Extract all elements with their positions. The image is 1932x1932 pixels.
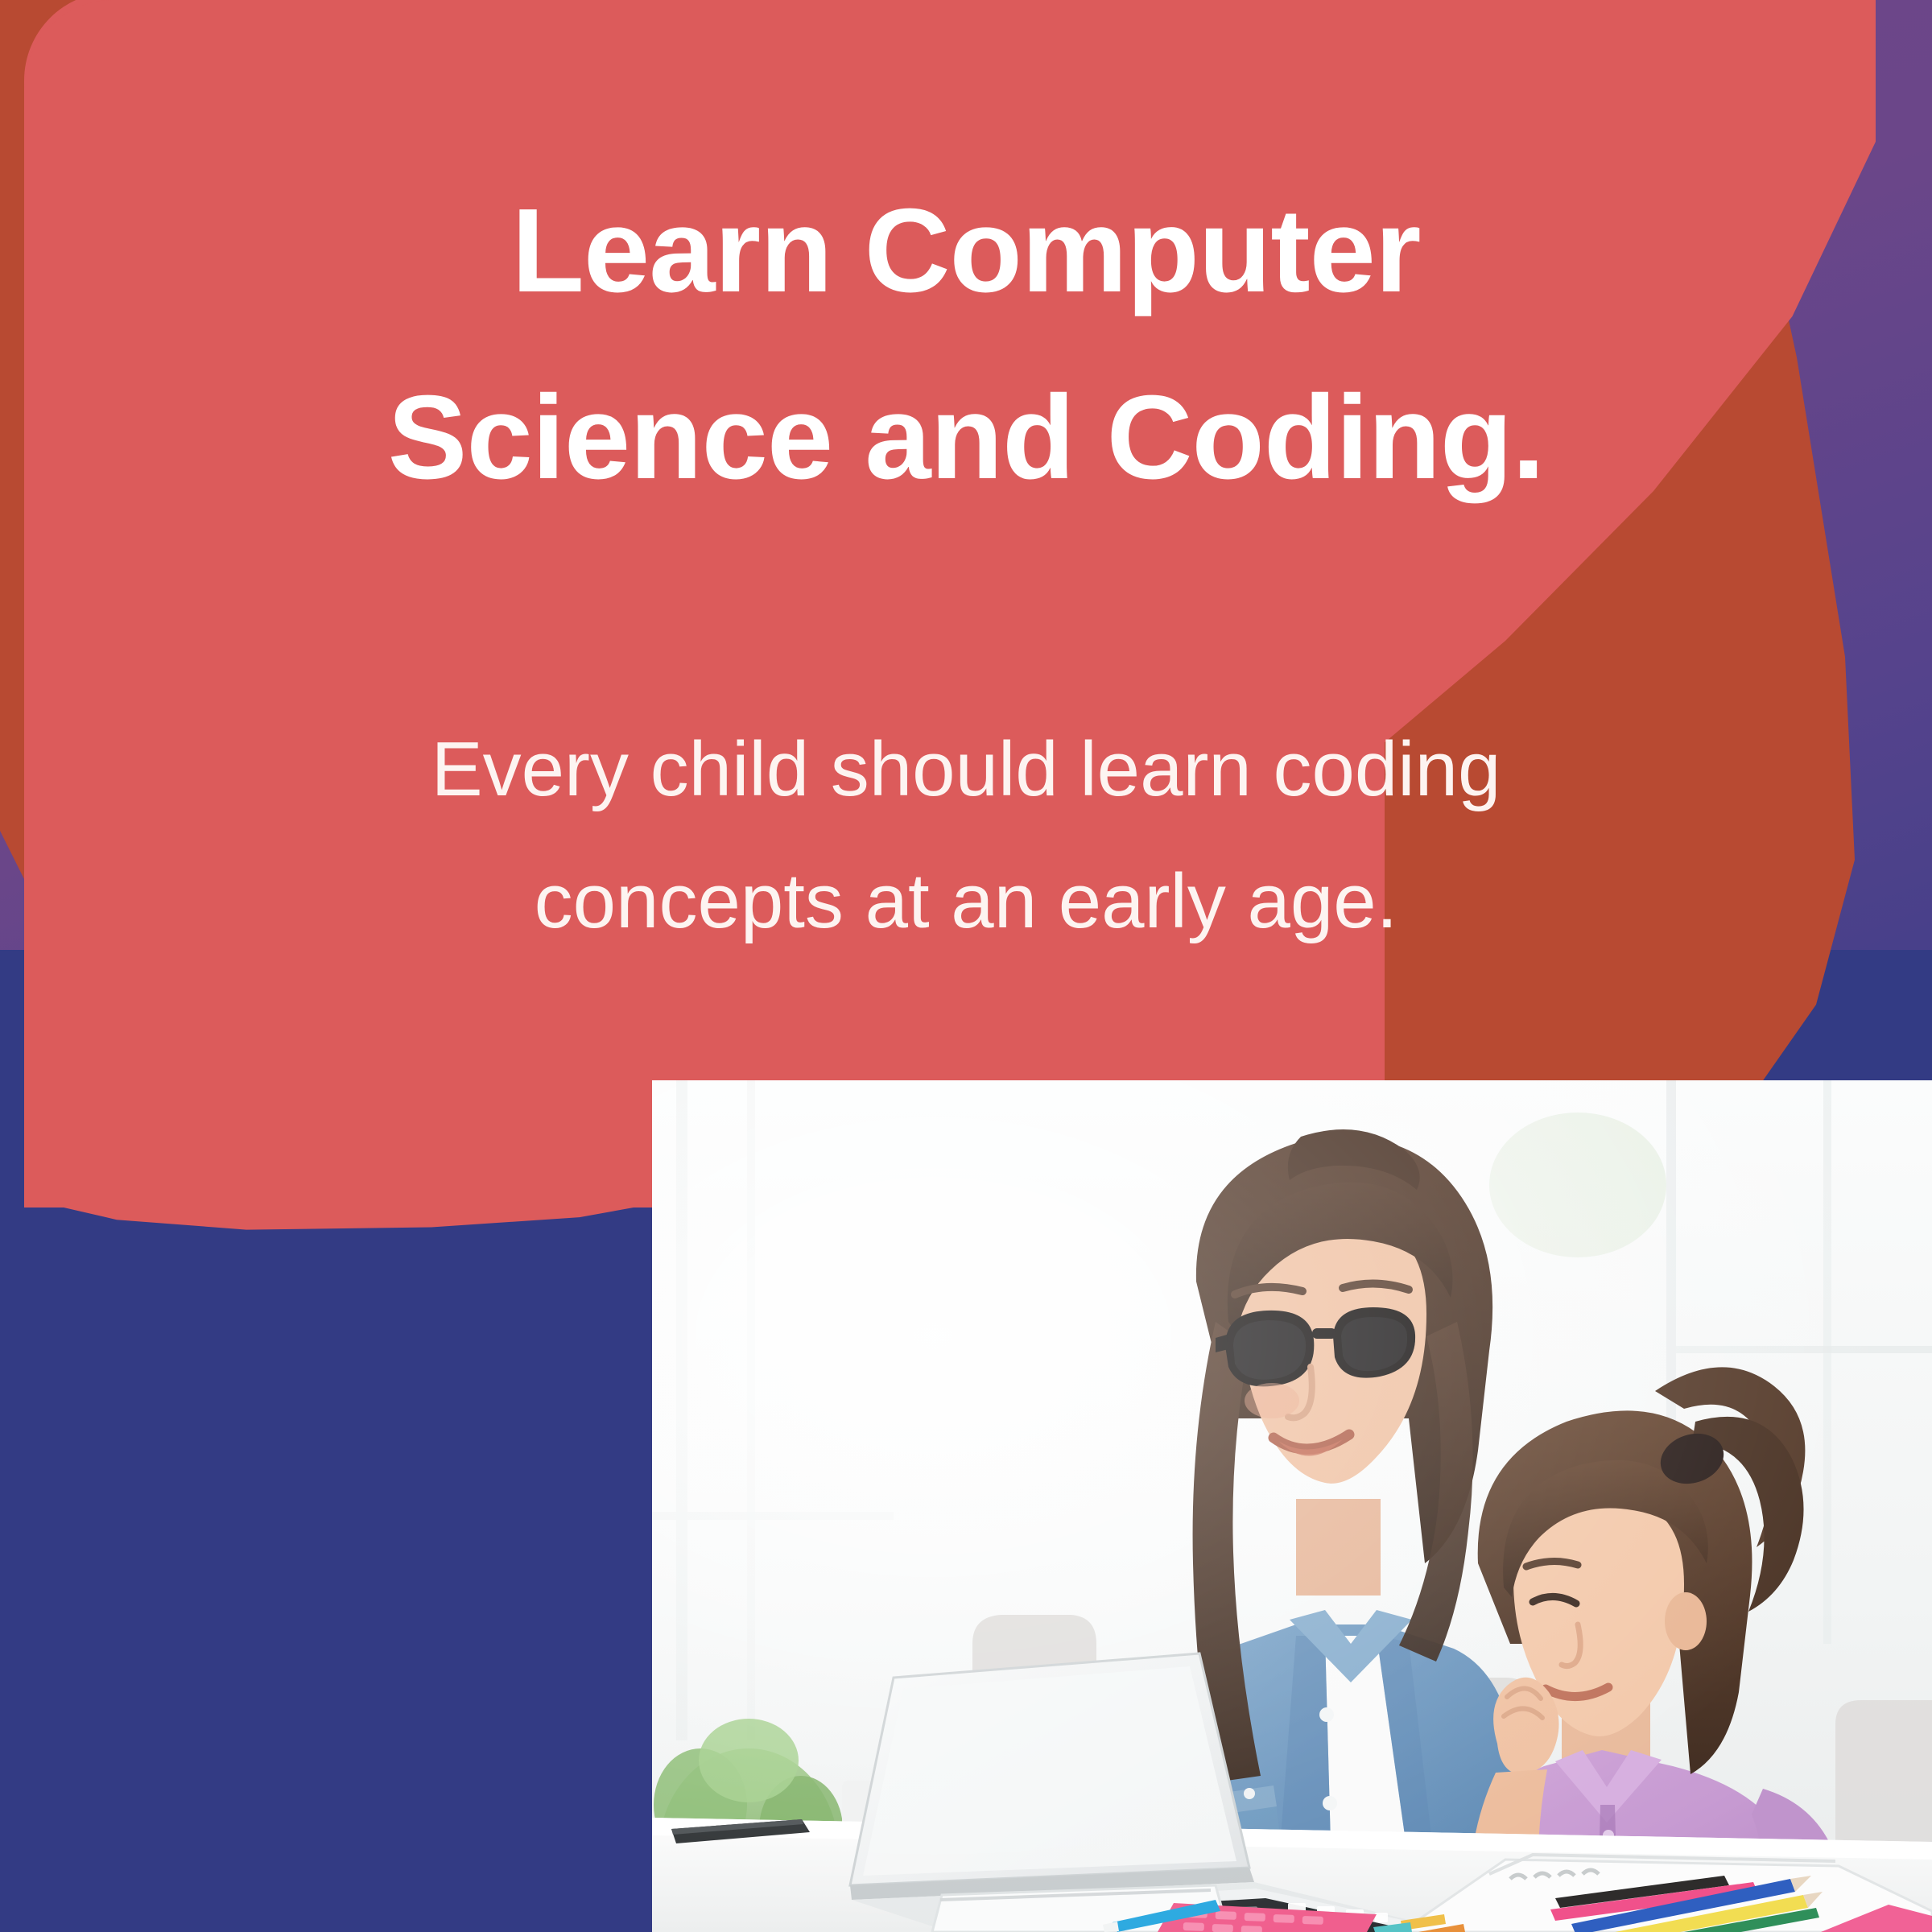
classroom-photo	[652, 1080, 1932, 1932]
subheading-line-2: concepts at an early age.	[0, 863, 1932, 940]
subheading-line-1: Every child should learn coding	[0, 731, 1932, 808]
coral-shape-panel	[24, 0, 1385, 1207]
headline-line-1: Learn Computer	[0, 192, 1932, 311]
headline-line-2: Science and Coding.	[0, 378, 1932, 497]
poster-canvas: Learn Computer Science and Coding. Every…	[0, 0, 1932, 1932]
photo-panel	[652, 1080, 1932, 1932]
